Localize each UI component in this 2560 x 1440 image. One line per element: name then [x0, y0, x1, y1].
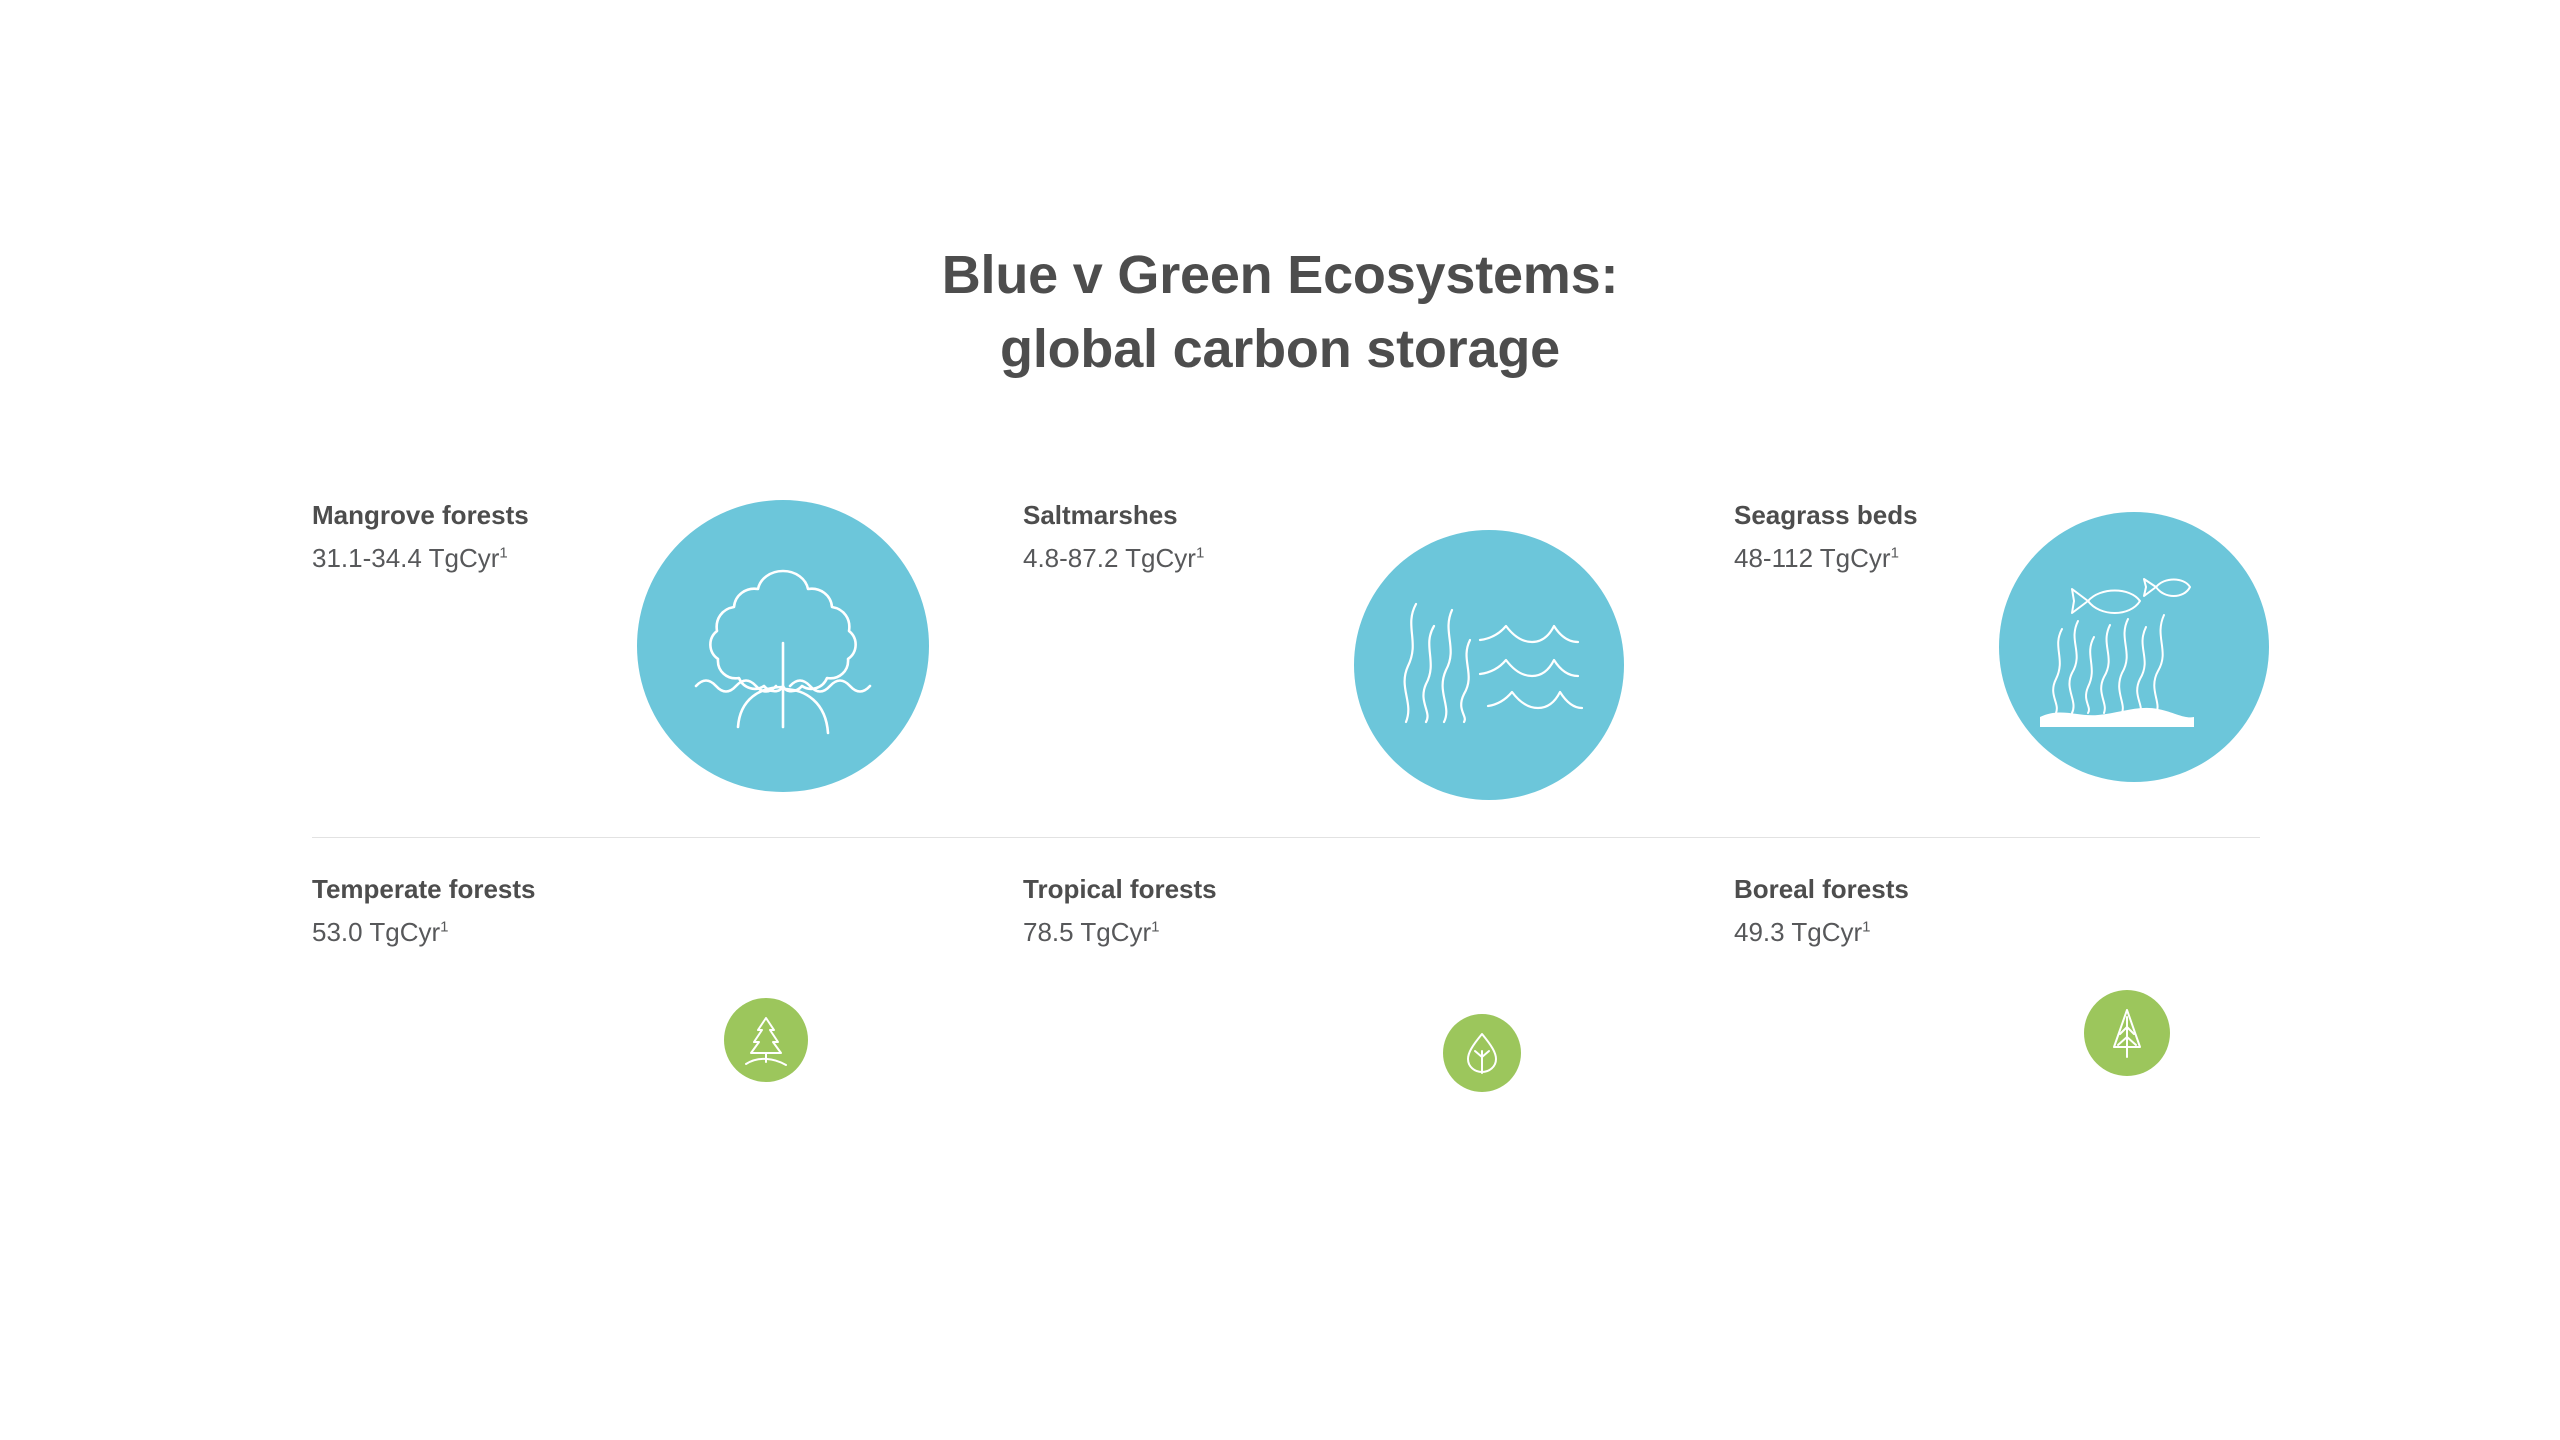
boreal-footnote-marker: 1	[1862, 918, 1870, 935]
saltmarshes-icon-circle	[1354, 530, 1624, 800]
saltmarsh-grass-waves-icon	[1394, 570, 1584, 760]
leaf-icon	[1458, 1029, 1506, 1077]
ecosystem-card-saltmarshes: Saltmarshes 4.8-87.2 TgCyr1	[1023, 498, 1734, 798]
saltmarshes-label-group: Saltmarshes 4.8-87.2 TgCyr1	[1023, 498, 1443, 574]
boreal-value: 49.3 TgCyr1	[1734, 916, 2154, 948]
conifer-tree-icon	[738, 1012, 794, 1068]
temperate-value: 53.0 TgCyr1	[312, 916, 732, 948]
saltmarshes-footnote-marker: 1	[1196, 544, 1204, 561]
mangrove-name: Mangrove forests	[312, 498, 732, 532]
boreal-label-group: Boreal forests 49.3 TgCyr1	[1734, 872, 2154, 948]
infographic-page: Blue v Green Ecosystems: global carbon s…	[0, 0, 2560, 1440]
boreal-icon-circle	[2084, 990, 2170, 1076]
seagrass-value-text: 48-112 TgCyr	[1734, 543, 1891, 573]
ecosystem-card-temperate-forests: Temperate forests 53.0 TgCyr1	[312, 872, 1023, 1102]
temperate-icon-circle	[724, 998, 808, 1082]
tropical-footnote-marker: 1	[1151, 918, 1159, 935]
tropical-icon-circle	[1443, 1014, 1521, 1092]
seagrass-icon-circle	[1999, 512, 2269, 782]
fish-small-icon	[2144, 579, 2190, 596]
ecosystem-card-tropical-forests: Tropical forests 78.5 TgCyr1	[1023, 872, 1734, 1102]
tropical-value-text: 78.5 TgCyr	[1023, 917, 1151, 947]
title-line-2: global carbon storage	[0, 312, 2560, 386]
temperate-label-group: Temperate forests 53.0 TgCyr1	[312, 872, 732, 948]
boreal-name: Boreal forests	[1734, 872, 2154, 906]
row-divider	[312, 837, 2260, 838]
saltmarshes-value-text: 4.8-87.2 TgCyr	[1023, 543, 1196, 573]
page-title: Blue v Green Ecosystems: global carbon s…	[0, 238, 2560, 386]
saltmarshes-name: Saltmarshes	[1023, 498, 1443, 532]
mangrove-value-text: 31.1-34.4 TgCyr	[312, 543, 499, 573]
tropical-label-group: Tropical forests 78.5 TgCyr1	[1023, 872, 1443, 948]
green-ecosystems-row: Temperate forests 53.0 TgCyr1 Tropical f…	[312, 872, 2260, 1102]
mangrove-icon-circle	[637, 500, 929, 792]
ecosystem-card-boreal-forests: Boreal forests 49.3 TgCyr1	[1734, 872, 2260, 1102]
saltmarshes-value: 4.8-87.2 TgCyr1	[1023, 542, 1443, 574]
tropical-value: 78.5 TgCyr1	[1023, 916, 1443, 948]
tropical-name: Tropical forests	[1023, 872, 1443, 906]
mangrove-tree-icon	[668, 531, 898, 761]
temperate-footnote-marker: 1	[440, 918, 448, 935]
spruce-tree-icon	[2099, 1005, 2155, 1061]
ecosystem-card-mangrove-forests: Mangrove forests 31.1-34.4 TgCyr1	[312, 498, 1023, 798]
seabed-icon	[2040, 708, 2194, 727]
title-line-1: Blue v Green Ecosystems:	[0, 238, 2560, 312]
blue-ecosystems-row: Mangrove forests 31.1-34.4 TgCyr1	[312, 498, 2260, 798]
temperate-name: Temperate forests	[312, 872, 732, 906]
temperate-value-text: 53.0 TgCyr	[312, 917, 440, 947]
fish-large-icon	[2072, 589, 2140, 613]
mangrove-footnote-marker: 1	[499, 544, 507, 561]
ecosystem-card-seagrass-beds: Seagrass beds 48-112 TgCyr1	[1734, 498, 2260, 798]
seagrass-footnote-marker: 1	[1891, 544, 1899, 561]
boreal-value-text: 49.3 TgCyr	[1734, 917, 1862, 947]
seagrass-fish-icon	[2034, 547, 2234, 747]
